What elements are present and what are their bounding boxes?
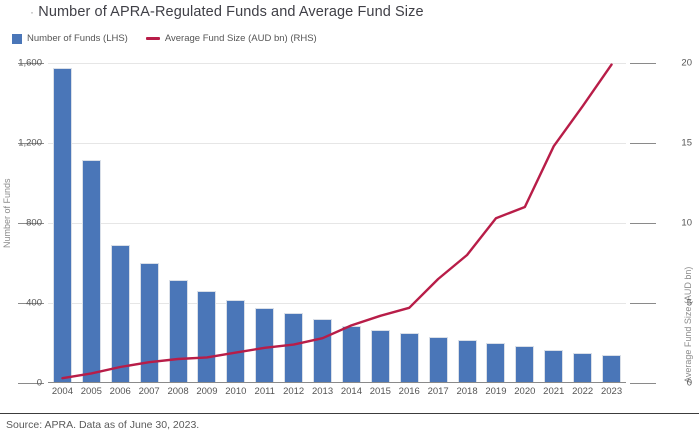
x-axis-tick-labels: 2004200520062007200820092010201120122013… (48, 386, 626, 402)
chart-legend: Number of Funds (LHS) Average Fund Size … (12, 33, 317, 44)
x-tick-label-2017: 2017 (428, 386, 449, 397)
average-fund-size-line (62, 65, 611, 379)
x-tick-label-2006: 2006 (110, 386, 131, 397)
left-tick-label: 1,600 (2, 58, 42, 69)
right-tick-label: 0 (662, 378, 692, 389)
title-lead-mark: · (30, 5, 34, 19)
x-tick-label-2016: 2016 (399, 386, 420, 397)
x-tick-label-2013: 2013 (312, 386, 333, 397)
right-tick-label: 10 (662, 218, 692, 229)
right-tick-mark (630, 143, 656, 144)
x-tick-label-2014: 2014 (341, 386, 362, 397)
left-tick-label: 800 (2, 218, 42, 229)
x-tick-label-2007: 2007 (139, 386, 160, 397)
chart-figure: · Number of APRA-Regulated Funds and Ave… (0, 0, 699, 443)
left-tick-label: 400 (2, 298, 42, 309)
legend-label-average-fund-size: Average Fund Size (AUD bn) (RHS) (165, 33, 317, 44)
legend-label-number-of-funds: Number of Funds (LHS) (27, 33, 128, 44)
right-tick-mark (630, 223, 656, 224)
x-tick-label-2008: 2008 (167, 386, 188, 397)
right-tick-label: 15 (662, 138, 692, 149)
x-tick-label-2010: 2010 (225, 386, 246, 397)
x-tick-label-2023: 2023 (601, 386, 622, 397)
x-tick-label-2018: 2018 (456, 386, 477, 397)
x-tick-label-2005: 2005 (81, 386, 102, 397)
left-tick-label: 0 (2, 378, 42, 389)
line-swatch-icon (146, 37, 160, 40)
title-text: Number of APRA-Regulated Funds and Avera… (38, 4, 423, 20)
right-tick-mark (630, 303, 656, 304)
x-tick-label-2022: 2022 (572, 386, 593, 397)
left-axis-title: Number of Funds (2, 178, 12, 248)
x-tick-label-2011: 2011 (255, 386, 275, 397)
right-tick-mark (630, 383, 656, 384)
source-note: Source: APRA. Data as of June 30, 2023. (6, 419, 199, 431)
legend-item-average-fund-size[interactable]: Average Fund Size (AUD bn) (RHS) (146, 33, 317, 44)
x-tick-label-2009: 2009 (196, 386, 217, 397)
right-tick-label: 5 (662, 298, 692, 309)
right-tick-label: 20 (662, 58, 692, 69)
x-tick-label-2020: 2020 (514, 386, 535, 397)
left-tick-label: 1,200 (2, 138, 42, 149)
x-tick-label-2021: 2021 (543, 386, 564, 397)
x-tick-label-2012: 2012 (283, 386, 304, 397)
footer-divider (0, 413, 699, 414)
x-tick-label-2004: 2004 (52, 386, 73, 397)
line-series (48, 63, 626, 383)
right-axis-title: Average Fund Size (AUD bn) (683, 267, 693, 383)
right-tick-mark (630, 63, 656, 64)
plot-area: 04008001,2001,600 05101520 (48, 63, 626, 383)
x-tick-label-2019: 2019 (485, 386, 506, 397)
x-axis-baseline (48, 382, 626, 383)
chart-title: · Number of APRA-Regulated Funds and Ave… (30, 4, 670, 20)
x-tick-label-2015: 2015 (370, 386, 391, 397)
legend-item-number-of-funds[interactable]: Number of Funds (LHS) (12, 33, 128, 44)
bar-swatch-icon (12, 34, 22, 44)
